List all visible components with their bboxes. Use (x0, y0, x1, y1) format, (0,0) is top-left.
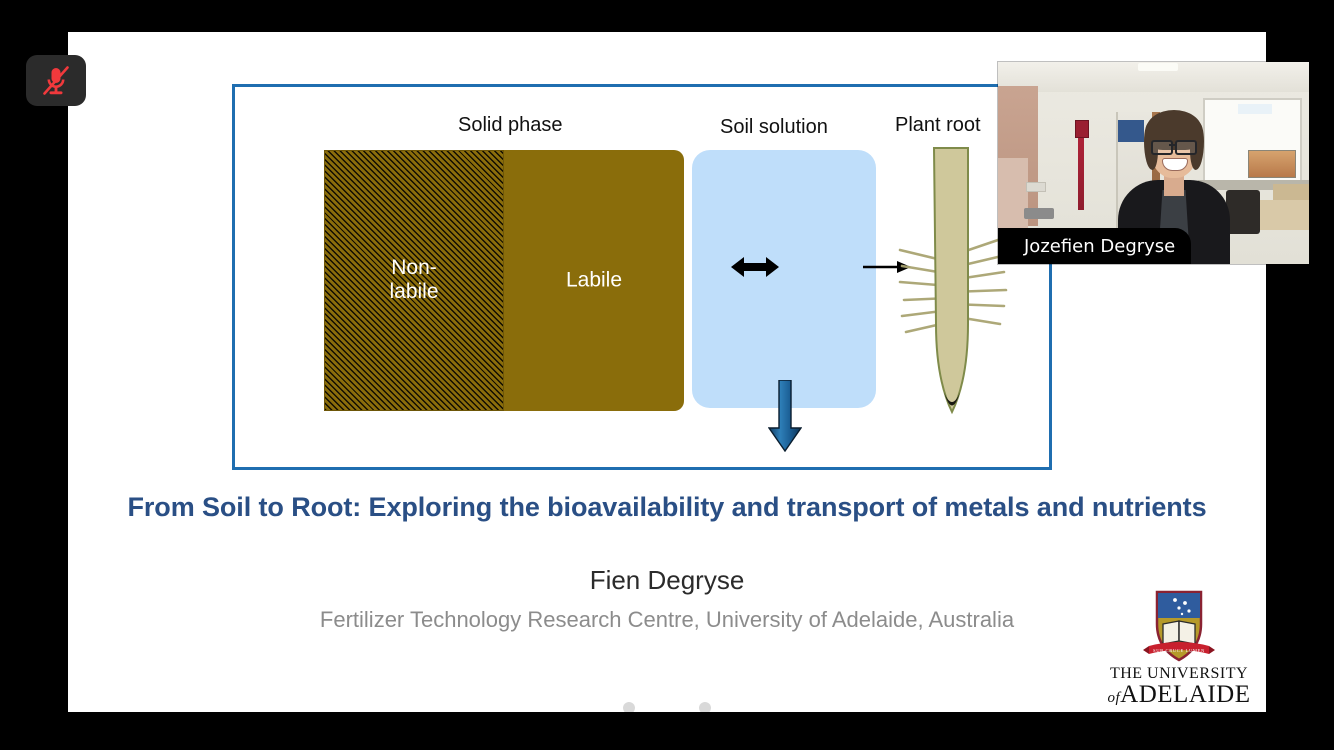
participant-name: Jozefien Degryse (1024, 236, 1175, 257)
box-non-labile-line1: Non- (325, 256, 503, 281)
pagination-dot-active[interactable] (661, 702, 673, 712)
pagination-dot[interactable] (699, 702, 711, 712)
page-title: From Soil to Root: Exploring the bioavai… (68, 492, 1266, 523)
video-person-glasses-left (1151, 140, 1173, 155)
leaching-arrow-icon (768, 380, 802, 452)
video-red-pole-cap (1075, 120, 1089, 138)
university-wordmark: THE UNIVERSITY ofADELAIDE (1105, 666, 1253, 707)
video-ceiling-light (1138, 63, 1178, 71)
label-solid-phase: Solid phase (458, 114, 563, 137)
box-non-labile-line2: labile (325, 281, 503, 306)
video-wall-poster (1118, 120, 1144, 142)
exchange-arrow-icon (731, 256, 779, 278)
video-cabinet-left-lower (998, 158, 1028, 238)
video-tray (1024, 208, 1054, 219)
plant-root-icon (898, 144, 1008, 429)
screen-share-view: Solid phase Soil solution Plant root Non… (0, 0, 1334, 750)
label-plant-root: Plant root (895, 114, 981, 137)
box-labile-label: Labile (504, 268, 684, 293)
box-non-labile-label: Non- labile (325, 256, 503, 306)
label-soil-solution: Soil solution (720, 116, 828, 139)
svg-text:SUB CRUCE LUMEN: SUB CRUCE LUMEN (1153, 648, 1205, 653)
adelaide-crest-icon: SUB CRUCE LUMEN (1105, 588, 1253, 668)
video-wall-picture (1248, 150, 1296, 178)
video-person-glasses-bridge (1169, 144, 1177, 146)
box-labile: Labile (504, 150, 684, 411)
university-logo: SUB CRUCE LUMEN THE UNIVERSITY ofADELAID… (1105, 588, 1253, 712)
pagination-dot[interactable] (623, 702, 635, 712)
microphone-muted-icon (41, 65, 71, 97)
video-whiteboard-light (1238, 104, 1272, 114)
box-non-labile: Non- labile (324, 150, 504, 411)
box-soil-solution (692, 150, 876, 408)
slide-pagination[interactable] (68, 702, 1266, 712)
university-wordmark-line1: THE UNIVERSITY (1105, 666, 1253, 682)
presenter-affiliation: Fertilizer Technology Research Centre, U… (68, 607, 1266, 633)
participant-name-badge: Jozefien Degryse (998, 228, 1191, 264)
participant-video-tile[interactable]: Jozefien Degryse (998, 62, 1309, 264)
presenter-name: Fien Degryse (68, 565, 1266, 596)
video-person-glasses-right (1175, 140, 1197, 155)
video-chair (1226, 190, 1260, 234)
mute-indicator-badge[interactable] (26, 55, 86, 106)
video-wall-switch (1026, 182, 1046, 192)
